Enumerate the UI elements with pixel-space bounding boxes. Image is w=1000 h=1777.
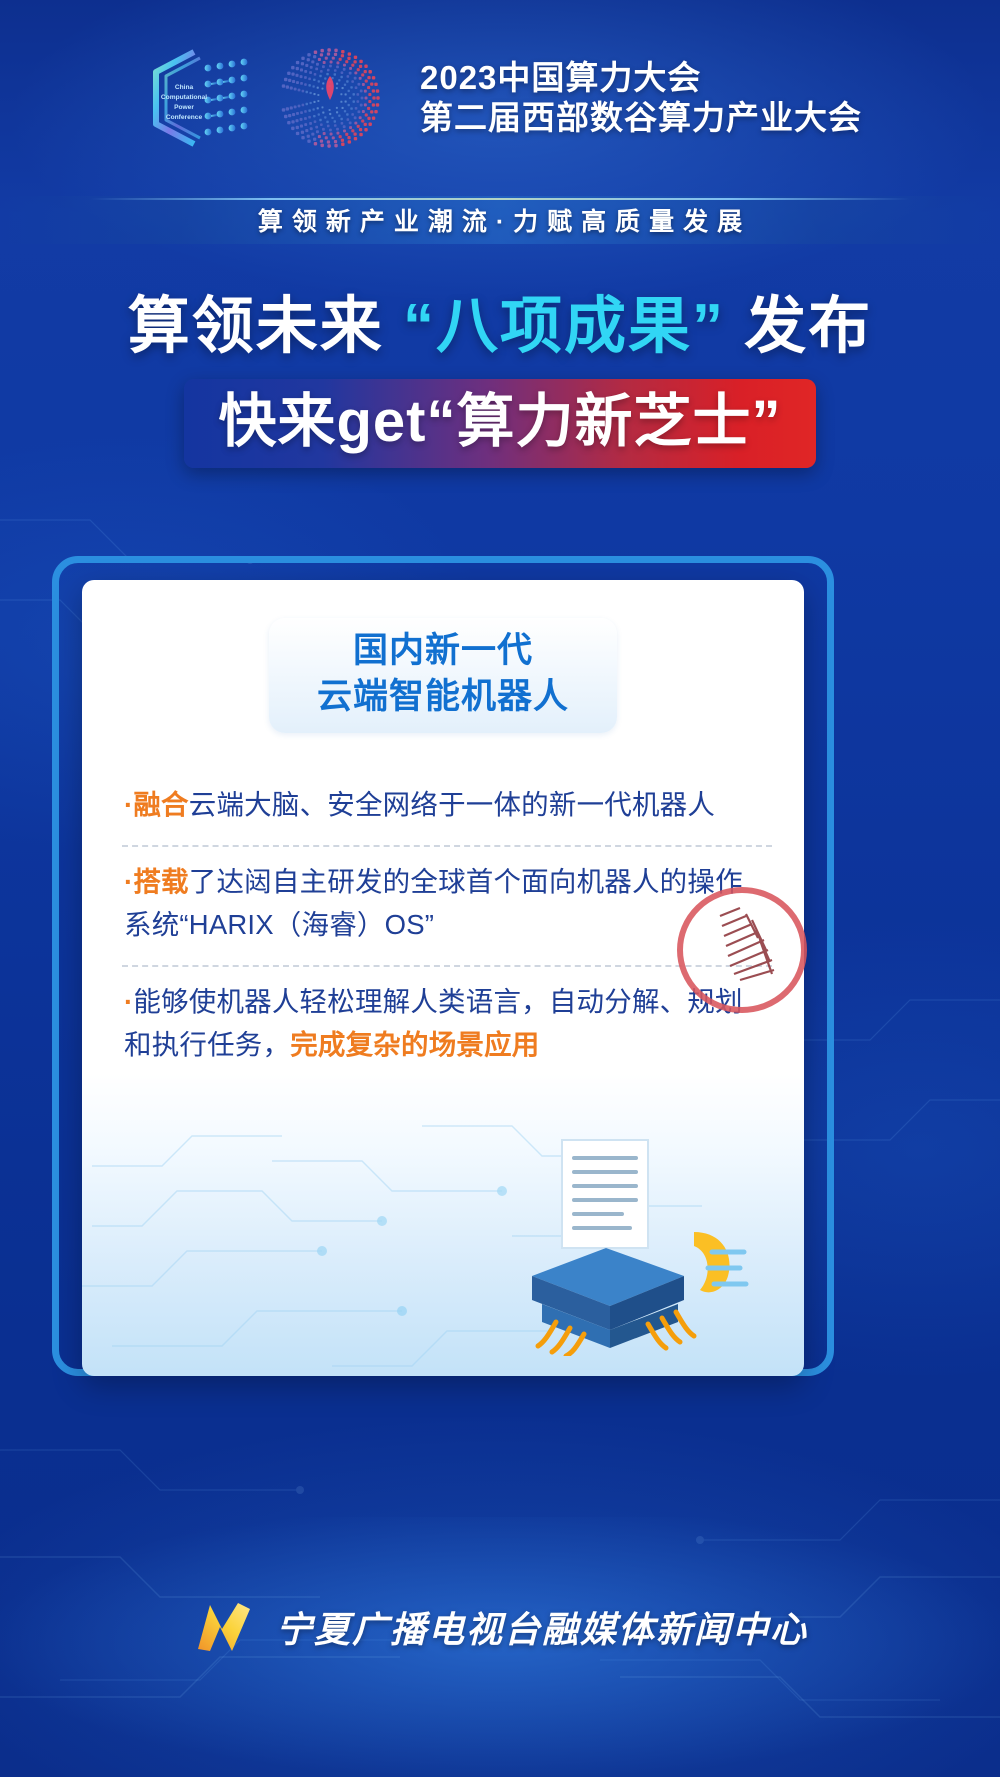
headline-banner: 快来get“算力新芝士”	[184, 379, 815, 468]
list-item: ·融合云端大脑、安全网络于一体的新一代机器人	[120, 770, 774, 845]
card-title: 国内新一代 云端智能机器人	[269, 618, 617, 733]
logo-text-line-1: China	[175, 84, 194, 91]
slogan-bar: 算领新产业潮流·力赋高质量发展	[0, 196, 1000, 244]
bullet-keyword: 融合	[133, 789, 188, 820]
conference-title-line-2: 第二届西部数谷算力产业大会	[420, 98, 862, 138]
bullet-keyword-tail: 完成复杂的场景应用	[290, 1029, 539, 1060]
west-data-valley-fan-logo-icon	[274, 42, 390, 154]
bullet-keyword: 搭载	[133, 866, 188, 897]
headline-block: 算领未来 “八项成果” 发布 快来get“算力新芝士”	[0, 290, 1000, 468]
conference-title-line-1: 2023中国算力大会	[420, 58, 862, 98]
bullet-text: 云端大脑、安全网络于一体的新一代机器人	[189, 789, 715, 820]
card-title-line-1: 国内新一代	[317, 628, 569, 674]
footer: 宁夏广播电视台融媒体新闻中心	[0, 1517, 1000, 1777]
list-item: ·搭载了达闼自主研发的全球首个面向机器人的操作系统“HARIX（海睿）OS”	[120, 847, 774, 965]
bullet-marker: ·	[124, 866, 133, 897]
headline-accent: “八项成果”	[403, 292, 725, 361]
bullet-marker: ·	[124, 789, 133, 820]
headline-suffix: 发布	[744, 292, 872, 361]
bullet-text: 了达闼自主研发的全球首个面向机器人的操作系统“HARIX（海睿）OS”	[124, 866, 743, 940]
footer-row: 宁夏广播电视台融媒体新闻中心	[0, 1599, 1000, 1655]
logo-text-line-4: Conference	[166, 114, 203, 121]
list-item: ·能够使机器人轻松理解人类语言，自动分解、规划和执行任务，完成复杂的场景应用	[120, 967, 774, 1085]
n-logo-icon	[192, 1599, 258, 1655]
bullet-marker: ·	[124, 986, 133, 1017]
logo-text-line-2: Computational	[161, 94, 207, 101]
china-computational-power-conference-logo-icon: China Computational Power Conference	[138, 42, 262, 154]
result-card: 国内新一代 云端智能机器人 ·融合云端大脑、安全网络于一体的新一代机器人 ·搭载…	[82, 580, 804, 1376]
headline-prefix: 算领未来	[128, 292, 384, 361]
card-bullet-list: ·融合云端大脑、安全网络于一体的新一代机器人 ·搭载了达闼自主研发的全球首个面向…	[120, 770, 774, 1084]
headline-line-2: 快来get“算力新芝士”	[218, 392, 781, 453]
footer-text: 宁夏广播电视台融媒体新闻中心	[276, 1601, 808, 1653]
logo-text-line-3: Power	[174, 104, 194, 111]
headline-line-1: 算领未来 “八项成果” 发布	[0, 290, 1000, 363]
server-document-illustration-icon	[498, 1136, 758, 1356]
slogan-text: 算领新产业潮流·力赋高质量发展	[249, 202, 751, 238]
conference-header: China Computational Power Conference	[0, 0, 1000, 196]
card-title-line-2: 云端智能机器人	[317, 674, 569, 720]
conference-title-block: 2023中国算力大会 第二届西部数谷算力产业大会	[420, 58, 862, 139]
